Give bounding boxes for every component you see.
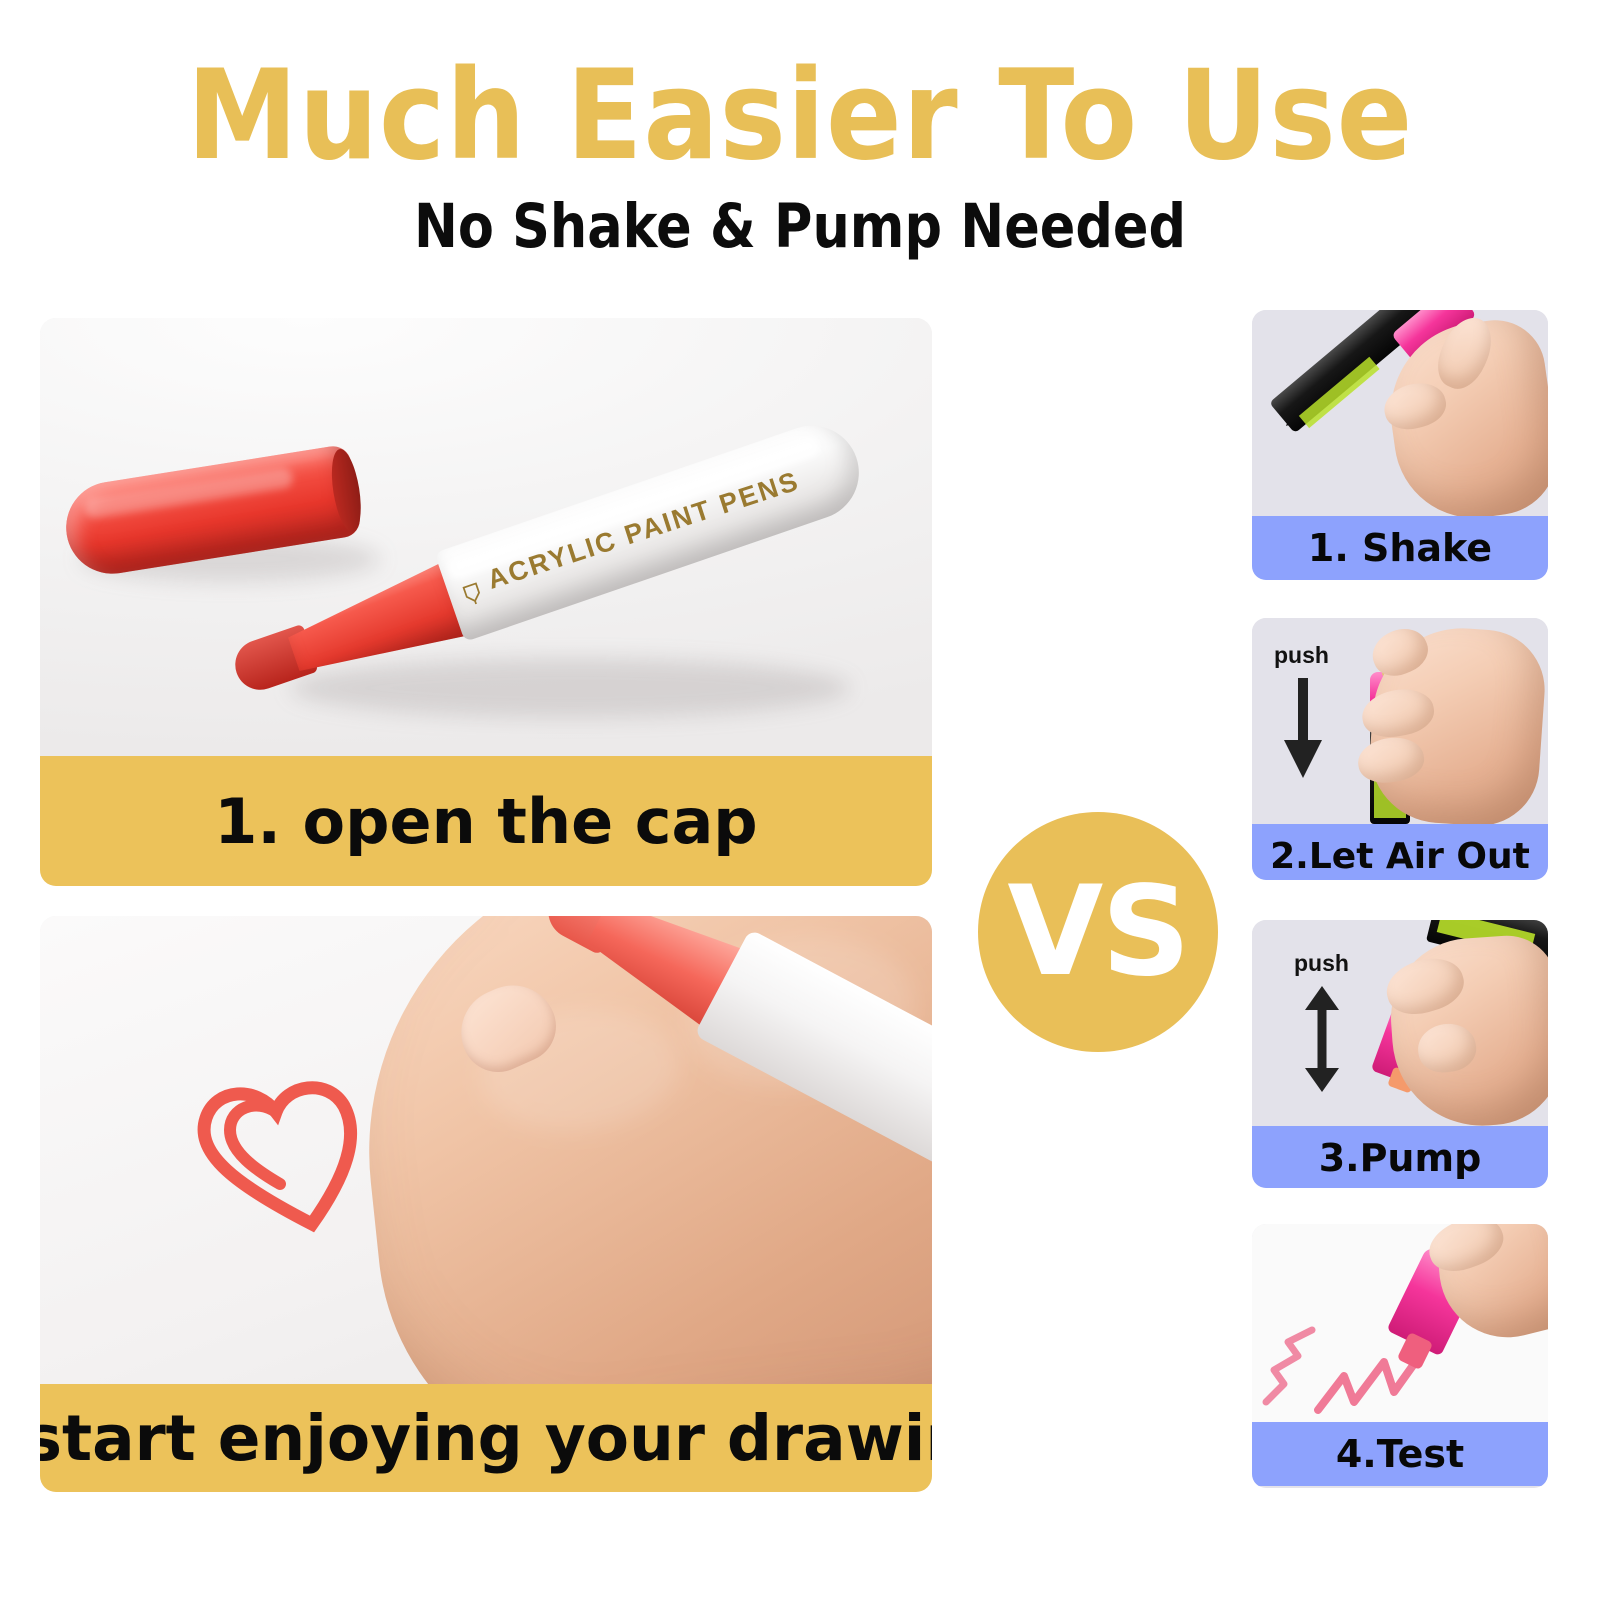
caption-shake: 1. Shake (1252, 516, 1548, 580)
page-subtitle: No Shake & Pump Needed (112, 192, 1488, 262)
page-title: Much Easier To Use (80, 52, 1520, 180)
photo-shake-marker (1252, 310, 1548, 516)
photo-test-strokes (1252, 1224, 1548, 1422)
photo-hand-drawing-heart (40, 916, 932, 1384)
photo-let-air-out: push (1252, 618, 1548, 824)
left-step-card-start-drawing: 2.start enjoying your drawing (40, 916, 932, 1492)
right-step-card-let-air-out: push 2.Let Air Out (1252, 618, 1548, 880)
left-step-card-open-the-cap: ACRYLIC PAINT PENS 1. open the cap (40, 318, 932, 886)
caption-test: 4.Test (1252, 1422, 1548, 1486)
vs-label: VS (1007, 870, 1188, 994)
caption-let-air-out: 2.Let Air Out (1252, 824, 1548, 880)
push-annotation: push (1294, 950, 1349, 977)
vs-badge: VS (978, 812, 1218, 1052)
push-annotation: push (1274, 642, 1329, 669)
caption-start-drawing: 2.start enjoying your drawing (40, 1384, 932, 1492)
caption-open-the-cap: 1. open the cap (40, 756, 932, 886)
photo-pen-with-cap-off: ACRYLIC PAINT PENS (40, 318, 932, 756)
infographic-page: Much Easier To Use No Shake & Pump Neede… (0, 0, 1600, 1600)
down-arrow-icon (1278, 674, 1328, 784)
hand (340, 916, 932, 1384)
right-step-card-pump: push 3.Pump (1252, 920, 1548, 1188)
right-step-card-shake: 1. Shake (1252, 310, 1548, 580)
caption-pump: 3.Pump (1252, 1126, 1548, 1188)
photo-pump: push (1252, 920, 1548, 1126)
right-step-card-test: 4.Test (1252, 1224, 1548, 1488)
double-headed-vertical-arrow-icon (1300, 984, 1344, 1094)
